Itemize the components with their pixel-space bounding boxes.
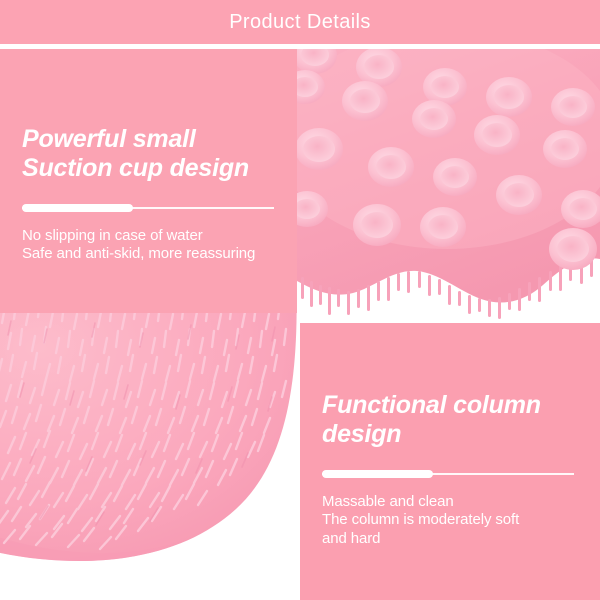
feature-body: Massable and clean The column is moderat… (322, 493, 584, 548)
page-title: Product Details (229, 12, 371, 32)
heading-divider (322, 469, 574, 479)
suction-cup-illustration (297, 49, 600, 323)
feature-panel-suction-cup: Powerful small Suction cup design No sli… (0, 49, 300, 313)
feature-heading: Powerful small Suction cup design (22, 125, 284, 183)
photo-suction-cups (297, 49, 600, 323)
feature-text-block: Powerful small Suction cup design No sli… (22, 125, 284, 264)
content-grid: Powerful small Suction cup design No sli… (0, 49, 600, 600)
header-banner: Product Details (0, 0, 600, 44)
photo-bristles (0, 313, 300, 600)
feature-text-block: Functional column design Massable and cl… (322, 391, 584, 548)
heading-divider (22, 203, 274, 213)
feature-body: No slipping in case of water Safe and an… (22, 227, 284, 264)
feature-panel-functional-column: Functional column design Massable and cl… (300, 323, 600, 600)
divider-thick-bar (322, 470, 433, 478)
product-details-image: Product Details Powerful small Suction c… (0, 0, 600, 600)
divider-thick-bar (22, 204, 133, 212)
feature-heading: Functional column design (322, 391, 584, 449)
bristle-illustration (0, 313, 300, 600)
